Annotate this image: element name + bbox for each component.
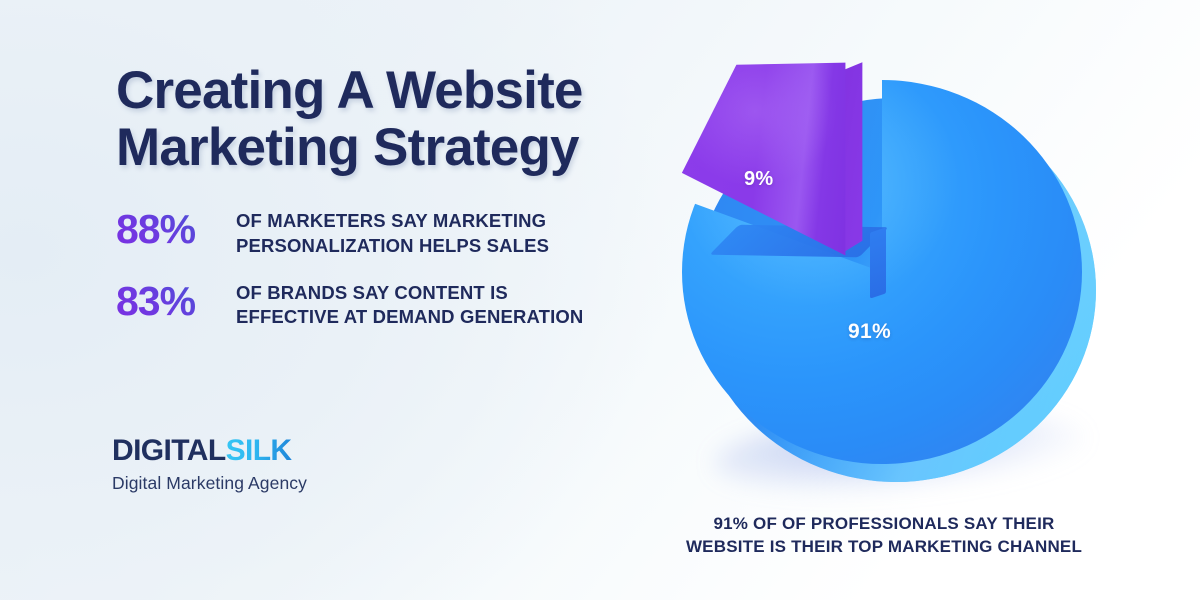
statistic-item: 83% OF BRANDS SAY CONTENT IS EFFECTIVE A…	[116, 279, 676, 330]
logo-primary-text: DIGITAL	[112, 436, 226, 466]
statistic-percentage: 83%	[116, 279, 236, 322]
infographic-canvas: Creating A Website Marketing Strategy 88…	[0, 0, 1200, 600]
page-title: Creating A Website Marketing Strategy	[116, 62, 676, 176]
pie-notch-inner-wall	[870, 227, 886, 298]
left-content-column: Creating A Website Marketing Strategy 88…	[116, 62, 676, 350]
logo-accent-text: SILK	[226, 436, 292, 466]
pie-stage: 9% 91%	[660, 40, 1120, 520]
pie-chart: 9% 91%	[660, 40, 1120, 520]
statistic-description: OF BRANDS SAY CONTENT IS EFFECTIVE AT DE…	[236, 279, 583, 330]
statistic-item: 88% OF MARKETERS SAY MARKETING PERSONALI…	[116, 207, 676, 258]
pie-label-91: 91%	[848, 320, 891, 344]
brand-logo: DIGITAL SILK Digital Marketing Agency	[112, 436, 307, 493]
statistic-description: OF MARKETERS SAY MARKETING PERSONALIZATI…	[236, 207, 549, 258]
statistic-percentage: 88%	[116, 207, 236, 250]
logo-wordmark: DIGITAL SILK	[112, 436, 307, 466]
chart-caption: 91% OF OF PROFESSIONALS SAY THEIR WEBSIT…	[660, 512, 1108, 559]
statistics-list: 88% OF MARKETERS SAY MARKETING PERSONALI…	[116, 207, 676, 329]
pie-label-9: 9%	[744, 168, 774, 191]
logo-tagline: Digital Marketing Agency	[112, 475, 307, 493]
